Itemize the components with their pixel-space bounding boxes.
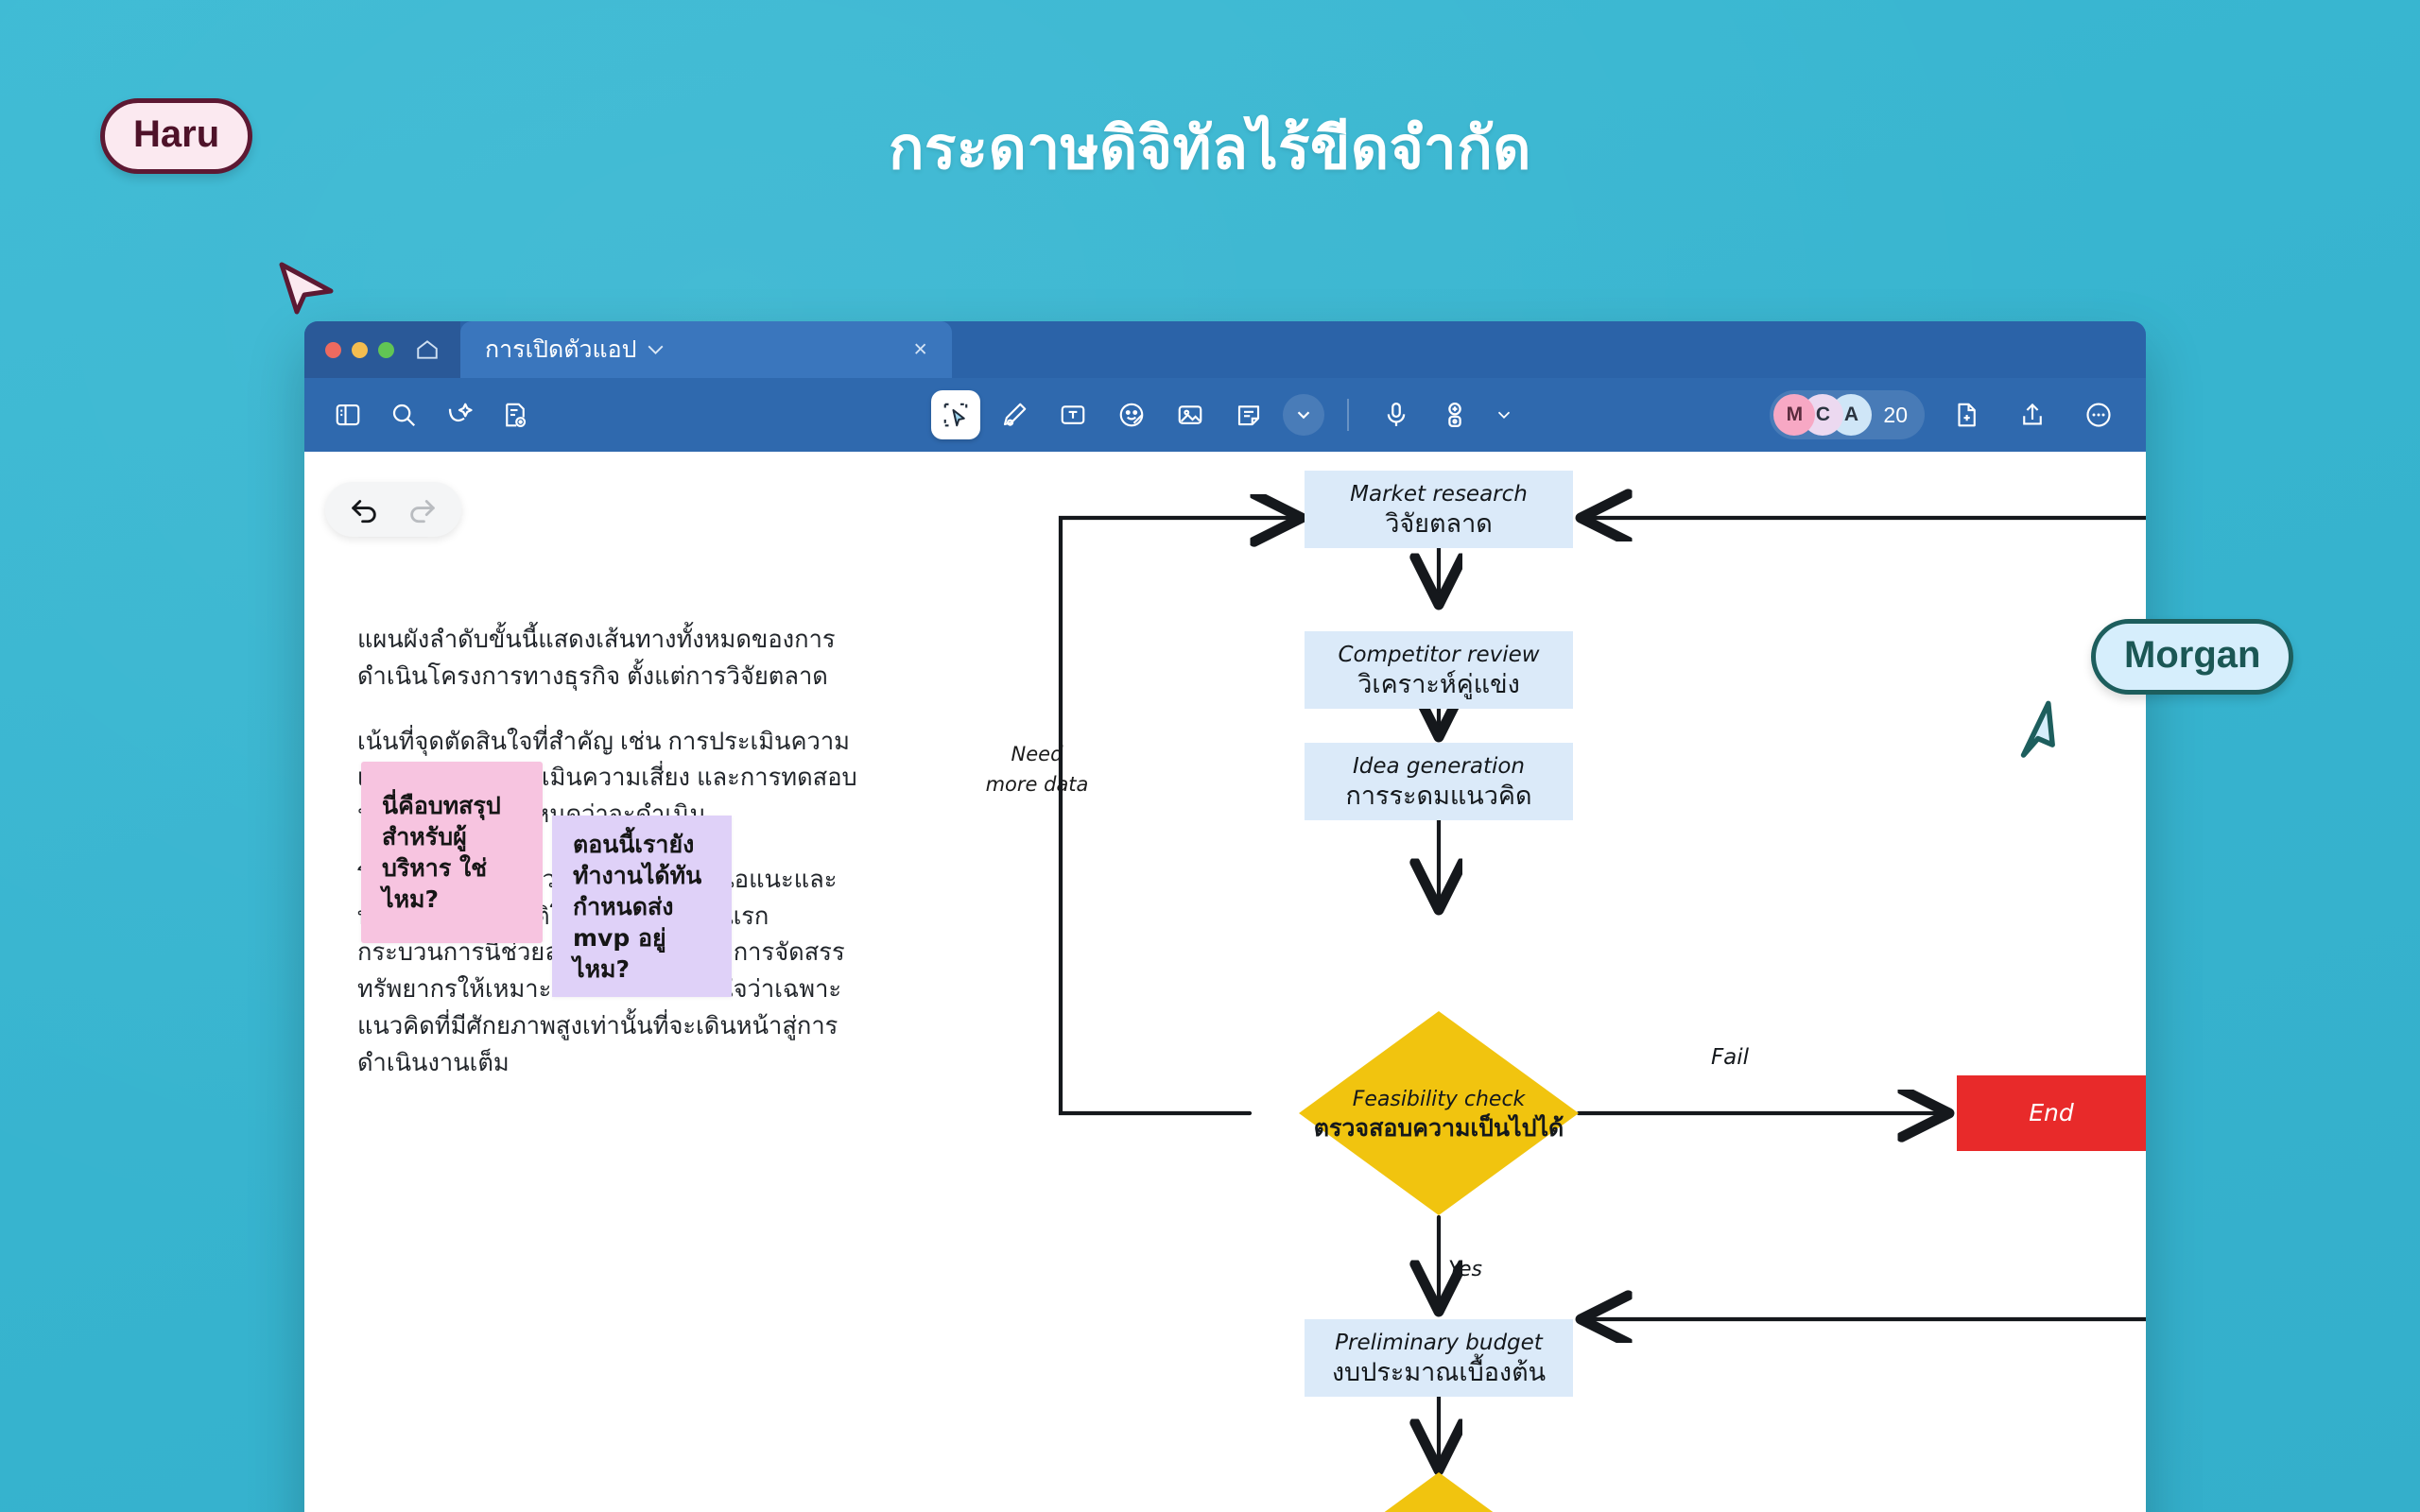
svg-text:Feasibility check: Feasibility check xyxy=(1353,1088,1527,1111)
edge-label-yes: Yes xyxy=(1448,1258,1482,1281)
note-icon[interactable] xyxy=(1224,390,1273,439)
edge-loop-to-market xyxy=(1061,518,1302,1113)
toolbar-right-group: M C A 20 xyxy=(1770,390,2123,439)
svg-text:ตรวจสอบความเป็นไปได้: ตรวจสอบความเป็นไปได้ xyxy=(1314,1113,1564,1142)
redo-icon[interactable] xyxy=(406,493,439,525)
toolbar-left-group xyxy=(323,390,540,439)
participant-count: 20 xyxy=(1883,403,1908,428)
flowchart[interactable]: Market research วิจัยตลาด Competitor rev… xyxy=(304,452,2146,1512)
cursor-arrow-icon xyxy=(276,257,337,318)
document-settings-icon[interactable] xyxy=(491,390,540,439)
chevron-down-icon[interactable] xyxy=(648,345,664,354)
participant-avatars[interactable]: M C A 20 xyxy=(1770,390,1925,439)
svg-text:วิจัยตลาด: วิจัยตลาด xyxy=(1385,509,1493,539)
flow-node-end-fail[interactable]: End xyxy=(1957,1075,2146,1151)
maximize-window-button[interactable] xyxy=(378,342,394,358)
magic-wand-icon[interactable] xyxy=(435,390,484,439)
svg-text:Competitor review: Competitor review xyxy=(1338,643,1539,667)
pen-icon[interactable] xyxy=(990,390,1039,439)
search-icon[interactable] xyxy=(379,390,428,439)
svg-text:วิเคราะห์คู่แข่ง: วิเคราะห์คู่แข่ง xyxy=(1357,669,1520,699)
share-icon[interactable] xyxy=(2008,390,2057,439)
cursor-label-morgan: Morgan xyxy=(2091,619,2293,695)
edge-label-fail: Fail xyxy=(1711,1045,1750,1070)
window-titlebar: การเปิดตัวแอป × xyxy=(304,321,2146,378)
document-tab[interactable]: การเปิดตัวแอป × xyxy=(460,321,952,378)
close-tab-button[interactable]: × xyxy=(913,338,927,362)
flow-node-feasibility[interactable]: Feasibility check ตรวจสอบความเป็นไปได้ xyxy=(1299,1011,1579,1215)
undo-redo-group xyxy=(325,482,461,537)
add-person-icon[interactable] xyxy=(1430,390,1479,439)
flow-node-budget[interactable]: Preliminary budget งบประมาณเบื้องต้น xyxy=(1305,1319,1573,1397)
sticker-icon[interactable] xyxy=(1107,390,1156,439)
titlebar-left-group xyxy=(304,321,460,378)
select-cursor-icon[interactable] xyxy=(931,390,980,439)
toolbar-center-group xyxy=(931,390,1519,439)
chevron-down-icon[interactable] xyxy=(1283,394,1324,436)
chevron-down-icon[interactable] xyxy=(1489,390,1519,439)
flow-node-market[interactable]: Market research วิจัยตลาด xyxy=(1305,471,1573,548)
svg-text:Preliminary budget: Preliminary budget xyxy=(1335,1331,1544,1355)
more-icon[interactable] xyxy=(2074,390,2123,439)
cursor-label-haru: Haru xyxy=(100,98,252,174)
minimize-window-button[interactable] xyxy=(352,342,368,358)
document-tab-title: การเปิดตัวแอป xyxy=(485,331,637,369)
image-icon[interactable] xyxy=(1166,390,1215,439)
close-window-button[interactable] xyxy=(325,342,341,358)
panel-icon[interactable] xyxy=(323,390,372,439)
page-title: กระดาษดิจิทัลไร้ขีดจำกัด xyxy=(0,102,2420,195)
svg-text:End: End xyxy=(2029,1099,2074,1126)
whiteboard-canvas[interactable]: แผนผังลำดับขั้นนี้แสดงเส้นทางทั้งหมดของก… xyxy=(304,452,2146,1512)
flow-node-evaluation[interactable]: Evaluation การประเมิน xyxy=(1297,1472,1581,1512)
cursor-badge-morgan: Morgan xyxy=(2091,619,2293,695)
microphone-icon[interactable] xyxy=(1372,390,1421,439)
cursor-badge-haru: Haru xyxy=(100,98,252,174)
text-icon[interactable] xyxy=(1048,390,1098,439)
toolbar-divider xyxy=(1347,399,1349,431)
cursor-arrow-icon xyxy=(2017,699,2083,765)
app-window: การเปิดตัวแอป × xyxy=(304,321,2146,1512)
svg-text:Idea generation: Idea generation xyxy=(1353,754,1525,779)
undo-icon[interactable] xyxy=(348,493,380,525)
flow-node-competitor[interactable]: Competitor review วิเคราะห์คู่แข่ง xyxy=(1305,631,1573,709)
svg-text:งบประมาณเบื้องต้น: งบประมาณเบื้องต้น xyxy=(1332,1353,1546,1387)
new-file-icon[interactable] xyxy=(1942,390,1991,439)
main-toolbar: M C A 20 xyxy=(304,378,2146,452)
svg-text:การระดมแนวคิด: การระดมแนวคิด xyxy=(1346,782,1532,811)
svg-text:Market research: Market research xyxy=(1350,482,1528,507)
flow-node-idea[interactable]: Idea generation การระดมแนวคิด xyxy=(1305,743,1573,820)
traffic-lights[interactable] xyxy=(325,342,394,358)
home-icon[interactable] xyxy=(415,337,440,362)
